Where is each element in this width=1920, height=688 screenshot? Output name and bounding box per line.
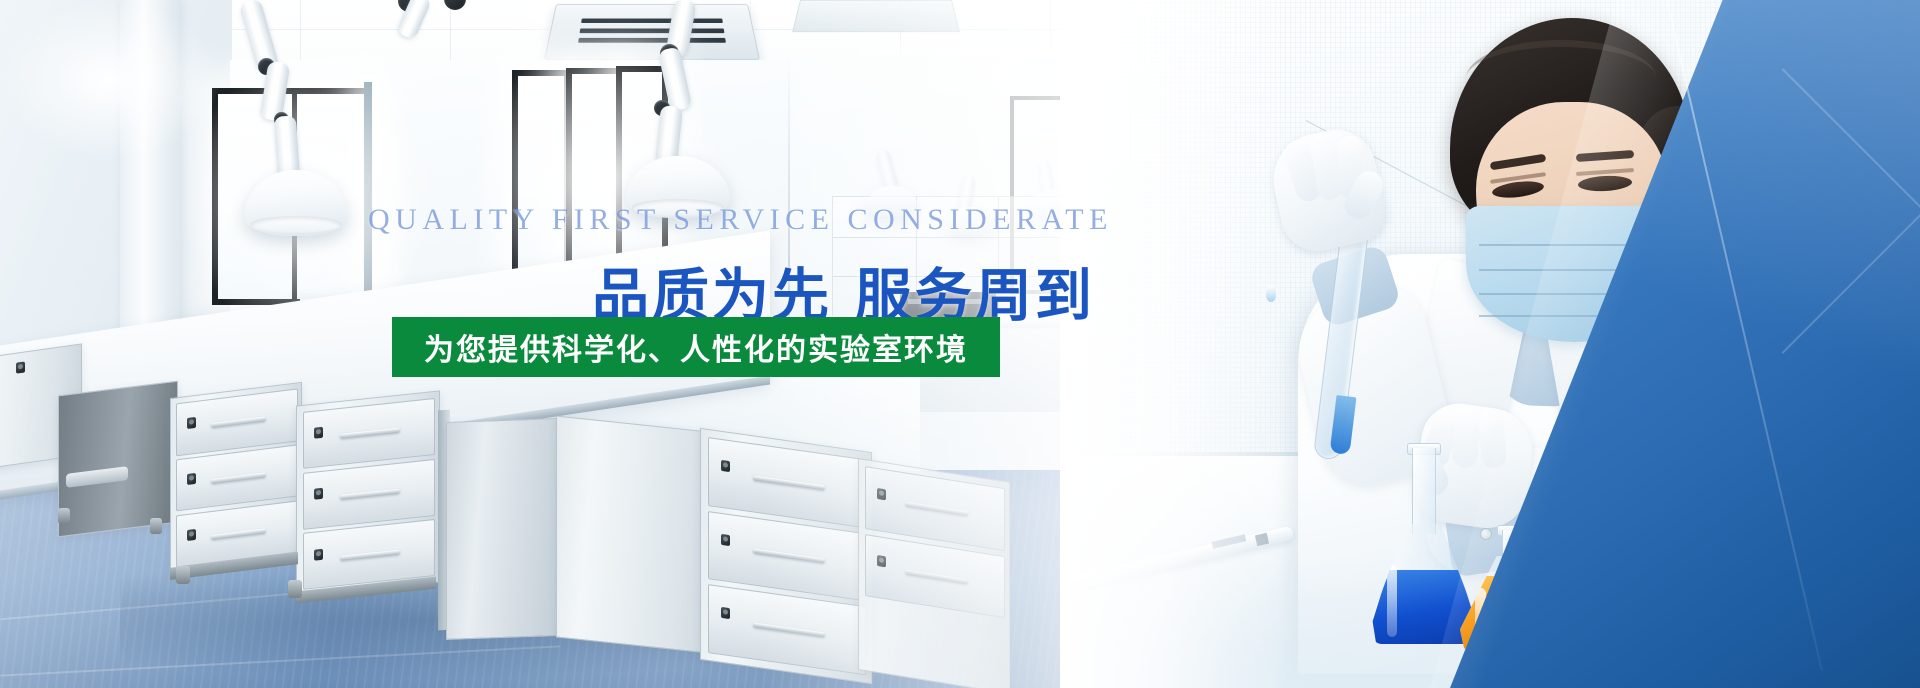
- cabinet-castor: [288, 580, 302, 598]
- ceiling-glow: [0, 0, 220, 160]
- cabinet-door-unit: [556, 415, 718, 654]
- drawer-handle[interactable]: [211, 472, 266, 484]
- drawer-handle[interactable]: [340, 488, 400, 499]
- hero-banner: QUALITY FIRST SERVICE CONSIDERATE 品质为先 服…: [0, 0, 1920, 688]
- drawer-handle[interactable]: [340, 549, 400, 560]
- cabinet-lock-icon: [187, 417, 196, 429]
- cabinet-lock-icon: [187, 473, 196, 485]
- flask-neck: [1412, 448, 1436, 534]
- cabinet-lock-icon: [721, 607, 730, 619]
- drawer-handle[interactable]: [211, 528, 266, 540]
- under-bench-unit: [58, 381, 178, 538]
- cabinet-castor: [176, 566, 190, 584]
- drawer-handle[interactable]: [211, 417, 266, 429]
- cabinet-side-panel: [446, 418, 558, 640]
- ac-vent: [579, 28, 725, 33]
- cabinet-lock-icon: [721, 460, 730, 472]
- hood-lip: [632, 199, 724, 215]
- photo-left-fade: [1060, 0, 1290, 688]
- cabinet-castor: [150, 518, 162, 534]
- drawer-cabinet: [170, 382, 302, 574]
- cabinet-lock-icon: [16, 361, 25, 373]
- flask-highlight: [1387, 565, 1397, 637]
- drawer[interactable]: [303, 398, 436, 469]
- ac-vent: [581, 19, 724, 23]
- cabinet-lock-icon: [314, 549, 323, 561]
- cabinet-castor: [58, 508, 70, 524]
- laboratory-scene: [0, 0, 1160, 688]
- drawer[interactable]: [303, 458, 436, 529]
- cabinet-lock-icon: [721, 533, 730, 545]
- hood-lip: [250, 216, 342, 233]
- drawer-handle[interactable]: [340, 428, 400, 439]
- cabinet-lock-icon: [187, 529, 196, 541]
- cabinet-lock-icon: [314, 427, 323, 439]
- drawer-cabinet: [296, 390, 440, 597]
- cabinet-lock-icon: [314, 488, 323, 500]
